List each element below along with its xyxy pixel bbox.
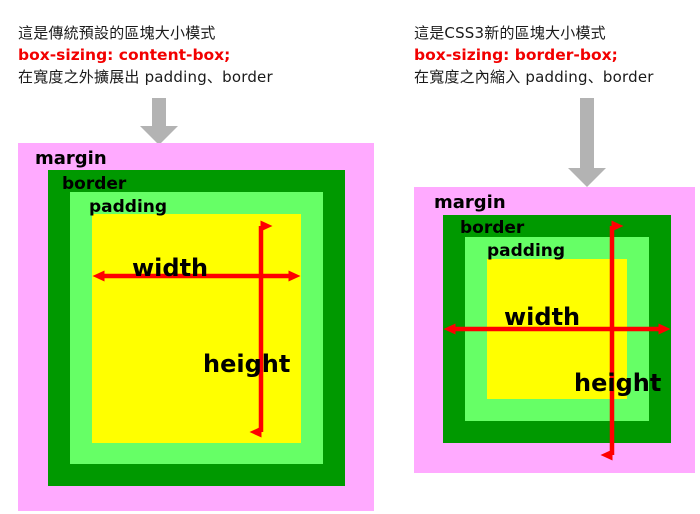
left-width-label: width [132,256,208,280]
right-height-label: height [574,371,661,395]
left-margin-label: margin [35,150,107,167]
arrow-down-icon [138,98,180,146]
left-padding-label: padding [89,199,167,216]
right-caption-block: 這是CSS3新的區塊大小模式 box-sizing: border-box; 在… [414,22,654,88]
left-height-label: height [203,352,290,376]
right-padding-label: padding [487,243,565,260]
right-caption-code: box-sizing: border-box; [414,44,654,66]
left-caption-line-1: 這是傳統預設的區塊大小模式 [18,22,273,44]
left-caption-code: box-sizing: content-box; [18,44,273,66]
right-margin-label: margin [434,194,506,211]
right-caption-line-3: 在寬度之內縮入 padding、border [414,66,654,88]
right-width-label: width [504,305,580,329]
arrow-down-icon [566,98,608,188]
left-caption-line-3: 在寬度之外擴展出 padding、border [18,66,273,88]
right-border-label: border [460,220,524,237]
left-caption-block: 這是傳統預設的區塊大小模式 box-sizing: content-box; 在… [18,22,273,88]
left-content-box [92,214,301,443]
left-border-label: border [62,176,126,193]
right-caption-line-1: 這是CSS3新的區塊大小模式 [414,22,654,44]
diagram-canvas: 這是傳統預設的區塊大小模式 box-sizing: content-box; 在… [0,0,700,514]
